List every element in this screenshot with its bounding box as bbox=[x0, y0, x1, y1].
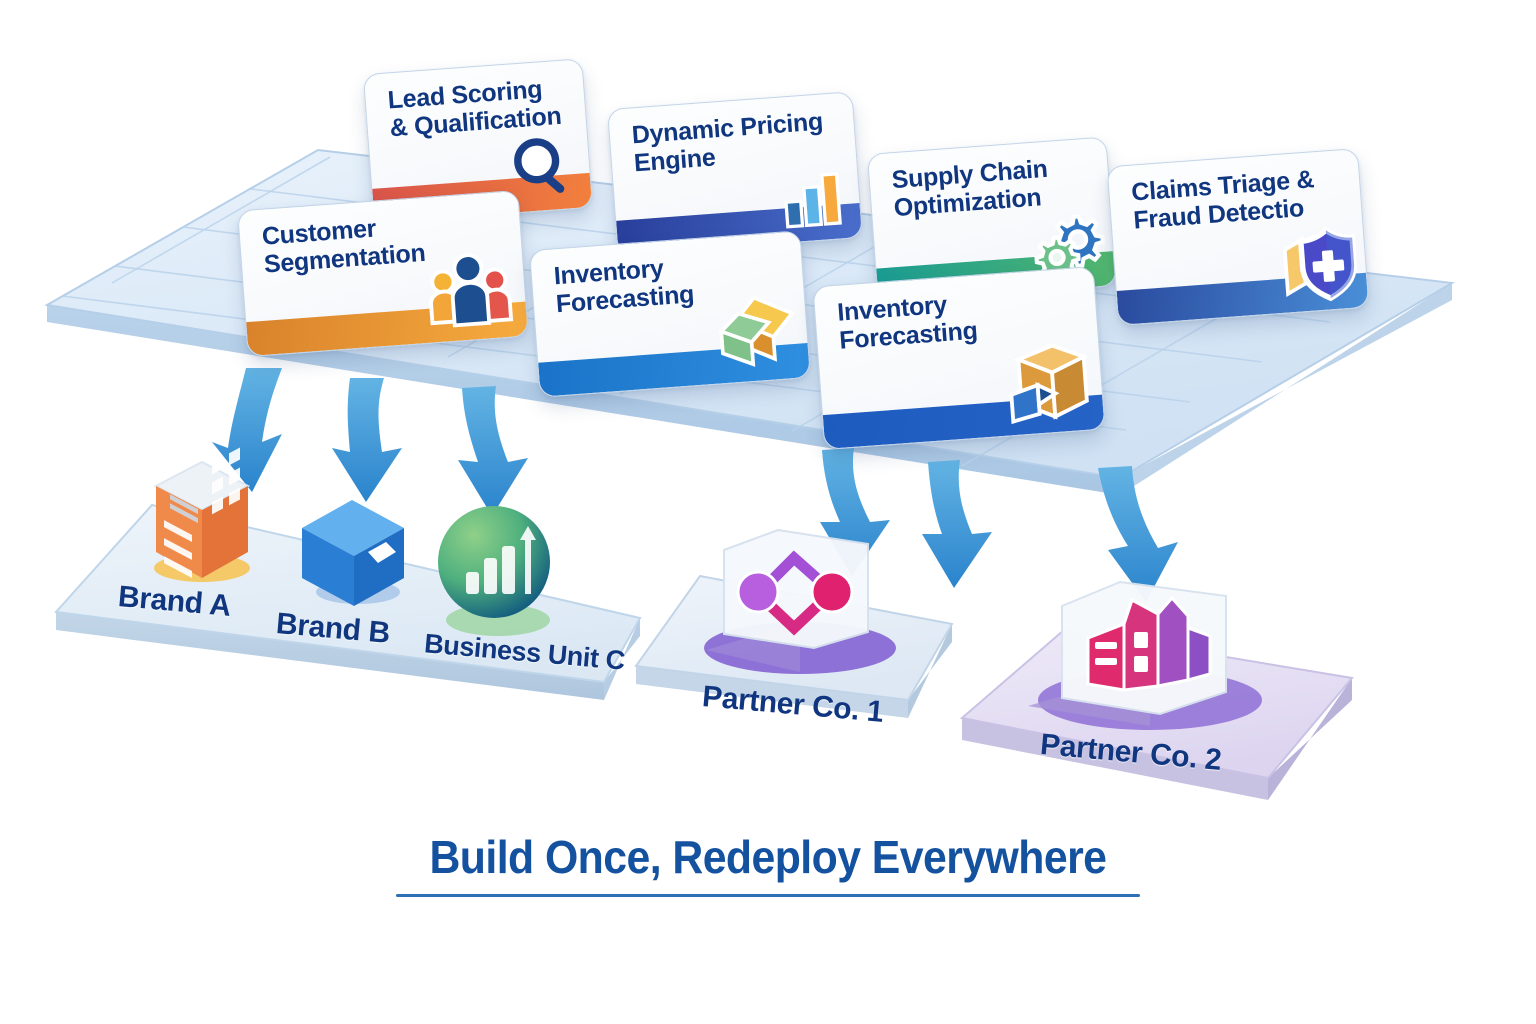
page-title: Build Once, Redeploy Everywhere bbox=[430, 830, 1107, 884]
card-inventory-forecasting-2[interactable]: Inventory Forecasting bbox=[812, 266, 1105, 450]
shield-plus-icon bbox=[1268, 213, 1366, 311]
title-underline bbox=[396, 894, 1140, 897]
network-nodes-icon bbox=[716, 528, 876, 658]
office-building-icon bbox=[130, 440, 270, 590]
growth-sphere-icon bbox=[420, 496, 570, 646]
card-claims-triage[interactable]: Claims Triage & Fraud Detectio bbox=[1106, 148, 1369, 326]
blue-cube-icon bbox=[288, 486, 418, 616]
open-package-icon bbox=[705, 282, 803, 380]
cardboard-box-icon bbox=[996, 329, 1099, 432]
card-inventory-forecasting-1[interactable]: Inventory Forecasting bbox=[529, 230, 811, 398]
card-label: Inventory Forecasting bbox=[836, 289, 978, 355]
partner-building-icon bbox=[1054, 580, 1234, 720]
headline-block: Build Once, Redeploy Everywhere bbox=[0, 830, 1536, 897]
people-group-icon bbox=[419, 236, 522, 339]
diagram-canvas: Lead Scoring & Qualification Dynamic Pri… bbox=[0, 0, 1536, 1024]
bar-chart-icon bbox=[768, 152, 856, 240]
card-label: Inventory Forecasting bbox=[553, 252, 695, 318]
card-dynamic-pricing[interactable]: Dynamic Pricing Engine bbox=[607, 91, 863, 256]
card-label: Customer Segmentation bbox=[261, 211, 426, 279]
card-customer-segmentation[interactable]: Customer Segmentation bbox=[237, 190, 529, 357]
